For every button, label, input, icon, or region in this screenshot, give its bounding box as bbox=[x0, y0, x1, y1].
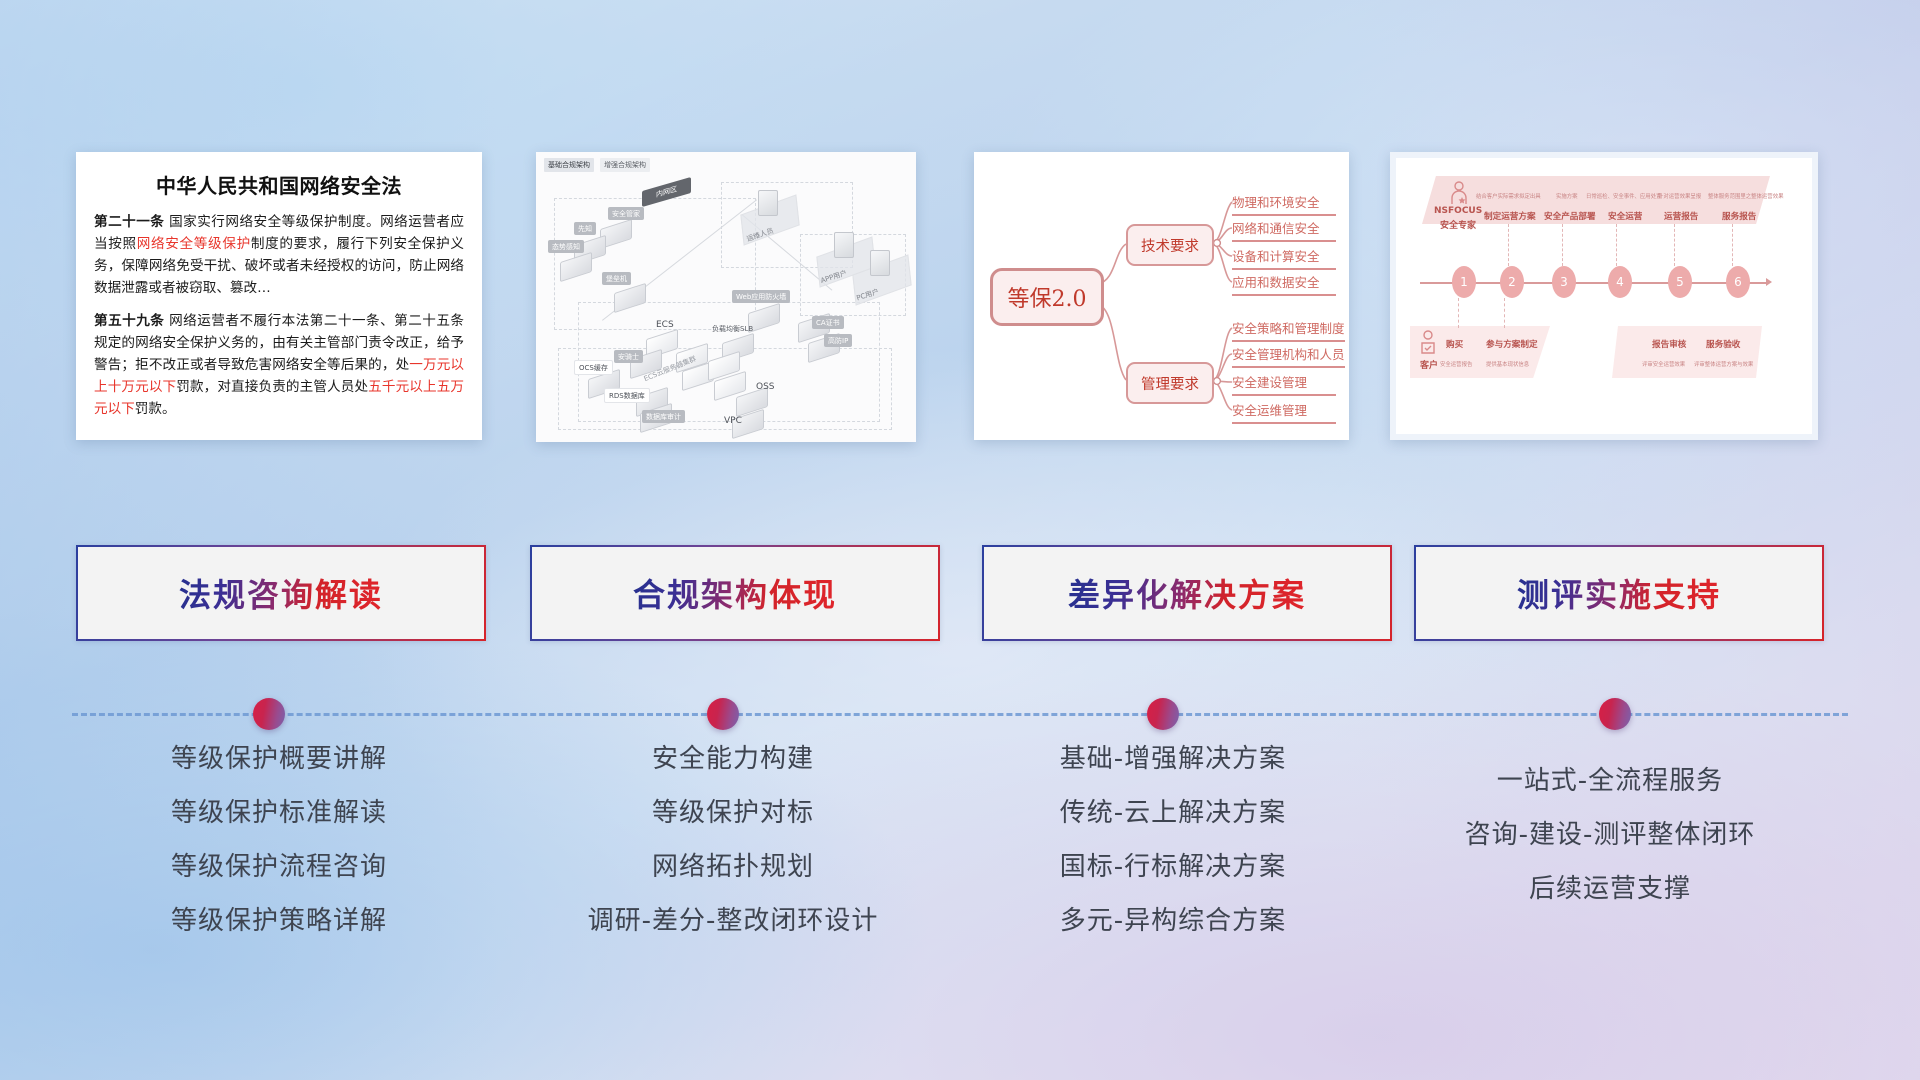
roadmap-dash-b1 bbox=[1458, 298, 1460, 328]
roadmap-dash-4 bbox=[1616, 224, 1618, 266]
roadmap-step-6-sub: 整体服务范围里之整体运营效果 bbox=[1708, 192, 1783, 200]
list-item: 基础-增强解决方案 bbox=[958, 738, 1388, 780]
mindmap-branch-technical[interactable]: 技术要求 bbox=[1126, 224, 1214, 266]
arch-label-ecs: ECS bbox=[652, 318, 678, 331]
list-item: 等级保护标准解读 bbox=[64, 792, 494, 834]
roadmap-node-1[interactable]: 1 bbox=[1452, 266, 1476, 298]
arch-label-vpc: VPC bbox=[720, 414, 746, 427]
roadmap-step-2-sub: 结合客户实际需求拟定出具 bbox=[1476, 192, 1541, 200]
roadmap-top-actor-name: NSFOCUS bbox=[1434, 206, 1482, 216]
roadmap-bottom-2-title: 参与方案制定 bbox=[1486, 338, 1538, 350]
list-item: 调研-差分-整改闭环设计 bbox=[518, 900, 948, 942]
roadmap-step-4-sub: 日常巡检、安全事件、应用处置 bbox=[1586, 192, 1661, 200]
roadmap-bottom-1-sub: 安全运营报告 bbox=[1440, 360, 1472, 368]
list-item: 等级保护对标 bbox=[518, 792, 948, 834]
list-item: 等级保护概要讲解 bbox=[64, 738, 494, 780]
card-cloud-architecture[interactable]: 基础合规架构 增强合规架构 内网区 安全管家 先知 态势感知 堡垒机 bbox=[536, 152, 916, 442]
roadmap-bottom-4-sub: 评审整体运营方案与效果 bbox=[1694, 360, 1753, 368]
article-59-number: 第五十九条 bbox=[94, 313, 164, 329]
roadmap-bottom-3-title: 报告审核 bbox=[1652, 338, 1686, 350]
roadmap-step-2-title: 制定运营方案 bbox=[1484, 210, 1536, 222]
list-item: 多元-异构综合方案 bbox=[958, 900, 1388, 942]
mindmap-leaf-tech-4[interactable]: 应用和数据安全 bbox=[1232, 272, 1336, 296]
roadmap-step-3-title: 安全产品部署 bbox=[1544, 210, 1596, 222]
arch-label-security-butler: 安全管家 bbox=[608, 207, 644, 220]
title-box-row: 法规咨询解读 合规架构体现 差异化解决方案 测评实施支持 bbox=[0, 545, 1920, 643]
timeline-dot-1[interactable] bbox=[253, 698, 285, 730]
roadmap-dash-5 bbox=[1674, 224, 1676, 266]
roadmap-step-6-title: 服务报告 bbox=[1722, 210, 1756, 222]
timeline-dot-4[interactable] bbox=[1599, 698, 1631, 730]
arch-screen-app-user bbox=[834, 232, 854, 258]
detail-list-row: 等级保护概要讲解 等级保护标准解读 等级保护流程咨询 等级保护策略详解 安全能力… bbox=[0, 738, 1920, 958]
roadmap-node-4[interactable]: 4 bbox=[1608, 266, 1632, 298]
title-label-1: 法规咨询解读 bbox=[179, 570, 383, 616]
roadmap-node-5[interactable]: 5 bbox=[1668, 266, 1692, 298]
roadmap-axis-arrow bbox=[1766, 278, 1772, 286]
roadmap-top-actor-role: 安全专家 bbox=[1440, 218, 1476, 231]
mindmap-root-node[interactable]: 等保2.0 bbox=[990, 268, 1104, 326]
law-article-59: 第五十九条 网络运营者不履行本法第二十一条、第二十五条规定的网络安全保护义务的，… bbox=[94, 310, 464, 420]
title-box-differentiated-solution[interactable]: 差异化解决方案 bbox=[982, 545, 1392, 641]
roadmap-bottom-4-title: 服务验收 bbox=[1706, 338, 1740, 350]
roadmap-node-3[interactable]: 3 bbox=[1552, 266, 1576, 298]
mindmap-branch-management[interactable]: 管理要求 bbox=[1126, 362, 1214, 404]
arch-label-rds: RDS数据库 bbox=[604, 388, 650, 403]
person-check-icon bbox=[1418, 330, 1438, 361]
law-article-21: 第二十一条 国家实行网络安全等级保护制度。网络运营者应当按照网络安全等级保护制度… bbox=[94, 211, 464, 299]
mindmap-leaf-mgmt-3[interactable]: 安全建设管理 bbox=[1232, 372, 1336, 396]
card-mindmap-dengbao[interactable]: 等保2.0 技术要求 管理要求 物理和环境安全 网络和通信安全 设备和计算安全 … bbox=[974, 152, 1349, 440]
roadmap-dash-2 bbox=[1508, 224, 1510, 266]
roadmap-dash-b2 bbox=[1504, 298, 1506, 328]
roadmap-step-5-title: 运营报告 bbox=[1664, 210, 1698, 222]
title-label-4: 测评实施支持 bbox=[1517, 570, 1721, 616]
list-item: 网络拓扑规划 bbox=[518, 846, 948, 888]
arch-label-xianzhi: 先知 bbox=[574, 222, 596, 235]
arch-label-situational-awareness: 态势感知 bbox=[548, 240, 584, 253]
list-item: 后续运营支撑 bbox=[1395, 868, 1825, 910]
arch-label-db-audit: 数据库审计 bbox=[642, 410, 685, 423]
roadmap-node-2[interactable]: 2 bbox=[1500, 266, 1524, 298]
mindmap-leaf-tech-3[interactable]: 设备和计算安全 bbox=[1232, 246, 1336, 270]
title-box-assessment-support[interactable]: 测评实施支持 bbox=[1414, 545, 1824, 641]
roadmap-bottom-actor-name: 客户 bbox=[1420, 358, 1438, 371]
list-item: 咨询-建设-测评整体闭环 bbox=[1395, 814, 1825, 856]
timeline-dot-2[interactable] bbox=[707, 698, 739, 730]
arch-tab-enhanced[interactable]: 增强合规架构 bbox=[600, 158, 650, 172]
arch-label-ocs: OCS缓存 bbox=[574, 360, 613, 375]
title-box-compliance-architecture[interactable]: 合规架构体现 bbox=[530, 545, 940, 641]
law-title: 中华人民共和国网络安全法 bbox=[94, 170, 464, 199]
card-nsfocus-roadmap[interactable]: NSFOCUS 安全专家 制定运营方案 结合客户实际需求拟定出具 安全产品部署 … bbox=[1390, 152, 1818, 440]
title-box-regulation-consulting[interactable]: 法规咨询解读 bbox=[76, 545, 486, 641]
roadmap-step-5-sub: 针对运营效果呈报 bbox=[1658, 192, 1701, 200]
list-item: 传统-云上解决方案 bbox=[958, 792, 1388, 834]
title-label-2: 合规架构体现 bbox=[633, 570, 837, 616]
timeline-dashed-line bbox=[72, 713, 1848, 716]
roadmap-bottom-1-title: 购买 bbox=[1446, 338, 1463, 350]
detail-column-1: 等级保护概要讲解 等级保护标准解读 等级保护流程咨询 等级保护策略详解 bbox=[64, 738, 494, 954]
arch-label-ca: CA证书 bbox=[812, 316, 844, 329]
arch-label-anqishi: 安骑士 bbox=[614, 350, 643, 363]
mindmap-leaf-mgmt-1[interactable]: 安全策略和管理制度 bbox=[1232, 318, 1345, 342]
roadmap-dash-6 bbox=[1732, 224, 1734, 266]
list-item: 一站式-全流程服务 bbox=[1395, 760, 1825, 802]
detail-column-2: 安全能力构建 等级保护对标 网络拓扑规划 调研-差分-整改闭环设计 bbox=[518, 738, 948, 954]
article-59-seg2: 罚款，对直接负责的主管人员处 bbox=[176, 379, 368, 395]
roadmap-bottom-2-sub: 提供基本现状信息 bbox=[1486, 360, 1529, 368]
mindmap-leaf-mgmt-2[interactable]: 安全管理机构和人员 bbox=[1232, 344, 1345, 368]
card-cybersecurity-law[interactable]: 中华人民共和国网络安全法 第二十一条 国家实行网络安全等级保护制度。网络运营者应… bbox=[76, 152, 482, 440]
list-item: 安全能力构建 bbox=[518, 738, 948, 780]
mindmap-leaf-tech-1[interactable]: 物理和环境安全 bbox=[1232, 192, 1336, 216]
list-item: 等级保护流程咨询 bbox=[64, 846, 494, 888]
detail-column-3: 基础-增强解决方案 传统-云上解决方案 国标-行标解决方案 多元-异构综合方案 bbox=[958, 738, 1388, 954]
arch-screen-pc-user bbox=[870, 250, 890, 276]
arch-label-anti-ddos: 高防IP bbox=[824, 334, 852, 347]
arch-tab-group[interactable]: 基础合规架构 增强合规架构 bbox=[544, 158, 650, 172]
roadmap-step-4-title: 安全运营 bbox=[1608, 210, 1642, 222]
mindmap-leaf-tech-2[interactable]: 网络和通信安全 bbox=[1232, 218, 1336, 242]
roadmap-top-band bbox=[1422, 176, 1770, 224]
article-21-number: 第二十一条 bbox=[94, 214, 164, 230]
mindmap-leaf-mgmt-4[interactable]: 安全运维管理 bbox=[1232, 400, 1336, 424]
roadmap-bottom-3-sub: 评审安全运营效果 bbox=[1642, 360, 1685, 368]
title-label-3: 差异化解决方案 bbox=[1068, 570, 1306, 616]
timeline-dot-3[interactable] bbox=[1147, 698, 1179, 730]
roadmap-node-6[interactable]: 6 bbox=[1726, 266, 1750, 298]
arch-label-bastion: 堡垒机 bbox=[602, 272, 631, 285]
timeline bbox=[0, 695, 1920, 735]
image-card-row: 中华人民共和国网络安全法 第二十一条 国家实行网络安全等级保护制度。网络运营者应… bbox=[0, 152, 1920, 452]
arch-label-oss: OSS bbox=[752, 380, 779, 393]
arch-label-waf: Web应用防火墙 bbox=[732, 290, 790, 303]
roadmap-bottom-right-band bbox=[1612, 326, 1762, 378]
article-59-seg3: 罚款。 bbox=[135, 401, 176, 417]
roadmap-dash-3 bbox=[1562, 224, 1564, 266]
list-item: 等级保护策略详解 bbox=[64, 900, 494, 942]
detail-column-4: 一站式-全流程服务 咨询-建设-测评整体闭环 后续运营支撑 bbox=[1395, 760, 1825, 922]
arch-screen-ops bbox=[758, 190, 778, 216]
article-21-highlight: 网络安全等级保护 bbox=[137, 236, 251, 252]
arch-tab-basic[interactable]: 基础合规架构 bbox=[544, 158, 594, 172]
list-item: 国标-行标解决方案 bbox=[958, 846, 1388, 888]
roadmap-step-3-sub: 实施方案 bbox=[1556, 192, 1578, 200]
arch-label-slb: 负载均衡SLB bbox=[708, 322, 757, 335]
